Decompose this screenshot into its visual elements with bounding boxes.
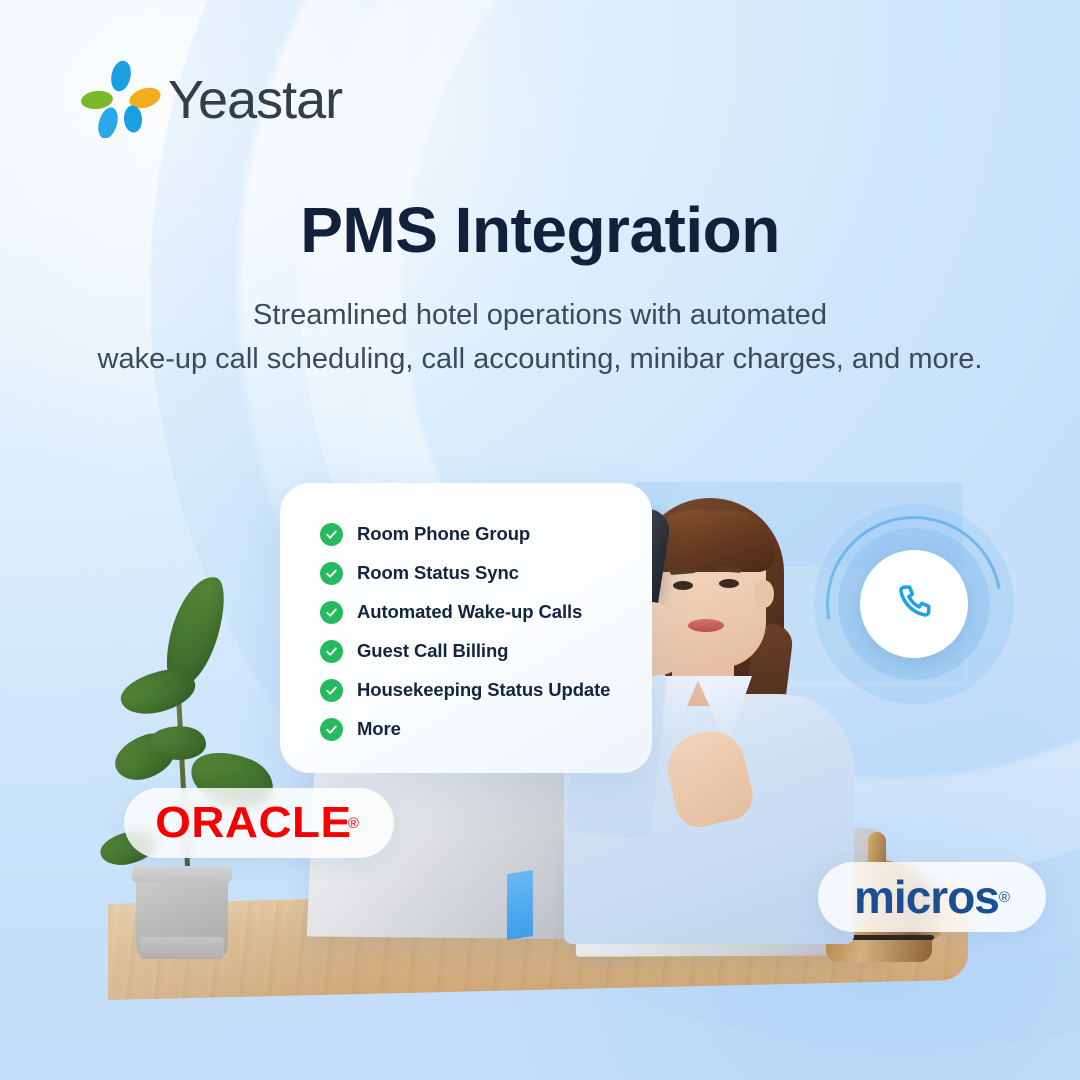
oracle-logo-text: ORACLE <box>155 798 351 848</box>
list-item-label: Automated Wake-up Calls <box>357 601 582 623</box>
list-item[interactable]: Guest Call Billing <box>320 638 652 664</box>
list-item[interactable]: Automated Wake-up Calls <box>320 599 652 625</box>
page-title: PMS Integration <box>0 196 1080 265</box>
subtitle-line-1: Streamlined hotel operations with automa… <box>0 293 1080 337</box>
check-circle-icon <box>320 601 343 624</box>
headline-block: PMS Integration Streamlined hotel operat… <box>0 196 1080 381</box>
check-circle-icon <box>320 718 343 741</box>
phone-handset-icon <box>893 581 935 628</box>
list-item-label: Room Phone Group <box>357 523 530 545</box>
list-item-label: Housekeeping Status Update <box>357 679 610 701</box>
list-item[interactable]: Room Phone Group <box>320 521 652 547</box>
partner-badge-oracle[interactable]: ORACLE® <box>124 788 394 858</box>
yeastar-wordmark: Yeastar <box>168 70 343 130</box>
list-item[interactable]: Housekeeping Status Update <box>320 677 652 703</box>
list-item[interactable]: Room Status Sync <box>320 560 652 586</box>
phone-badge[interactable] <box>860 550 968 658</box>
plant-leaf <box>117 665 200 720</box>
partner-badge-micros[interactable]: micros® <box>818 862 1046 932</box>
bell-knob <box>868 832 886 866</box>
potted-plant <box>94 556 284 956</box>
ear <box>754 580 774 608</box>
laptop-screen-sliver <box>507 870 533 940</box>
check-circle-icon <box>320 679 343 702</box>
micros-logo-text: micros <box>854 870 999 924</box>
list-item-label: Room Status Sync <box>357 562 519 584</box>
promo-canvas: Yeastar PMS Integration Streamlined hote… <box>0 0 1080 1080</box>
micros-registered-mark: ® <box>999 889 1010 906</box>
subtitle-line-2: wake-up call scheduling, call accounting… <box>0 337 1080 381</box>
yeastar-petal-mark <box>80 60 163 138</box>
feature-list-card: Room Phone Group Room Status Sync Automa… <box>280 483 652 773</box>
list-item-label: Guest Call Billing <box>357 640 508 662</box>
check-circle-icon <box>320 562 343 585</box>
yeastar-logo[interactable]: Yeastar <box>80 60 350 138</box>
plant-pot <box>136 872 228 956</box>
check-circle-icon <box>320 523 343 546</box>
page-subtitle: Streamlined hotel operations with automa… <box>0 293 1080 381</box>
eye-right <box>719 579 739 588</box>
check-circle-icon <box>320 640 343 663</box>
list-item-label: More <box>357 718 401 740</box>
list-item[interactable]: More <box>320 716 652 742</box>
eye-left <box>673 581 693 590</box>
lips <box>688 619 724 632</box>
